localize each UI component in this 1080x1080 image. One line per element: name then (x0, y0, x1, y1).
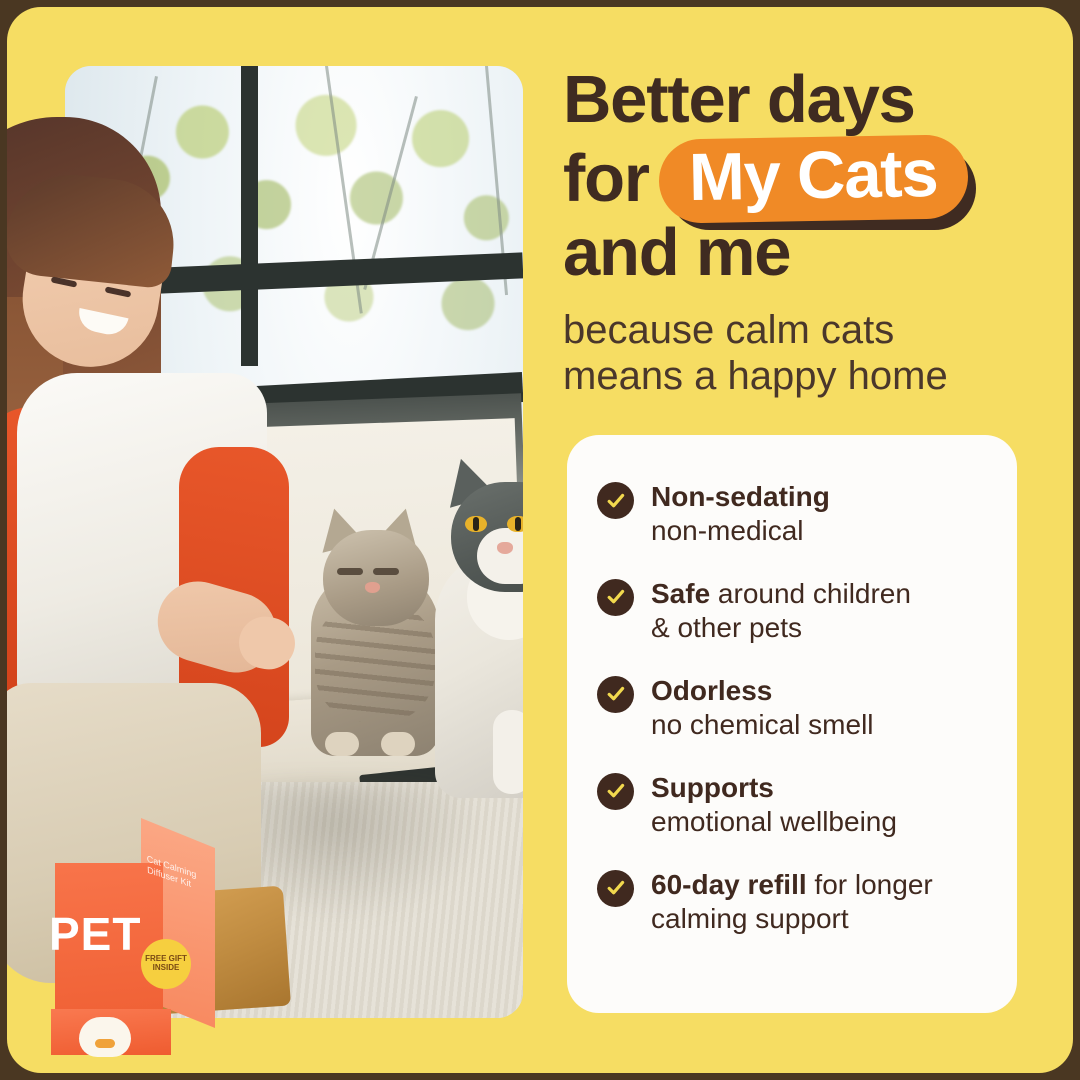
tabby-cat (305, 506, 445, 756)
cat-nose (497, 542, 513, 554)
benefit-detail: no chemical smell (651, 709, 874, 740)
benefit-headline: Odorless (651, 675, 772, 706)
benefit-detail: emotional wellbeing (651, 806, 897, 837)
benefit-detail: & other pets (651, 612, 802, 643)
cat-paw (325, 732, 359, 756)
cat-leg (493, 710, 523, 794)
grey-white-cat (433, 458, 523, 788)
check-icon (597, 870, 634, 907)
benefit-rest: around children (710, 578, 911, 609)
headline-block: Better days for My Cats and me because c… (563, 67, 1033, 399)
check-icon (597, 482, 634, 519)
benefit-item: Non-sedatingnon-medical (597, 479, 983, 549)
product-box: Cat Calming Diffuser Kit PET FREE GIFT I… (55, 833, 265, 1033)
benefit-text: Supportsemotional wellbeing (651, 770, 897, 840)
benefit-item: 60-day refill for longercalming support (597, 867, 983, 937)
poster: Cat Calming Diffuser Kit PET FREE GIFT I… (0, 0, 1080, 1080)
poster-canvas: Cat Calming Diffuser Kit PET FREE GIFT I… (7, 7, 1073, 1073)
check-icon (597, 579, 634, 616)
cat-eye (465, 516, 487, 532)
product-badge: FREE GIFT INSIDE (141, 939, 191, 989)
benefit-headline: Non-sedating (651, 481, 830, 512)
benefits-card: Non-sedatingnon-medicalSafe around child… (567, 435, 1017, 1013)
benefit-item: Supportsemotional wellbeing (597, 770, 983, 840)
pill-label: My Cats (658, 134, 968, 223)
page-title: Better days for My Cats and me (563, 67, 1033, 286)
benefit-text: Odorlessno chemical smell (651, 673, 874, 743)
benefit-detail: non-medical (651, 515, 804, 546)
benefit-headline: Supports (651, 772, 774, 803)
benefit-detail: calming support (651, 903, 849, 934)
cat-paw (381, 732, 415, 756)
check-icon (597, 773, 634, 810)
check-icon (597, 676, 634, 713)
benefit-text: Non-sedatingnon-medical (651, 479, 830, 549)
product-cat-illustration (79, 1017, 131, 1057)
subheadline: because calm cats means a happy home (563, 308, 1033, 399)
benefit-text: Safe around children& other pets (651, 576, 911, 646)
cat-head (323, 530, 429, 626)
benefit-item: Odorlessno chemical smell (597, 673, 983, 743)
benefit-rest: for longer (807, 869, 933, 900)
my-cats-pill: My Cats (659, 137, 968, 221)
subheadline-line-2: means a happy home (563, 354, 1033, 400)
benefit-item: Safe around children& other pets (597, 576, 983, 646)
cat-eye (373, 568, 399, 575)
benefit-text: 60-day refill for longercalming support (651, 867, 933, 937)
headline-for-word: for (563, 146, 649, 212)
headline-line-3: and me (563, 220, 1033, 286)
headline-line-1: Better days (563, 67, 1033, 133)
benefit-headline: Safe (651, 578, 710, 609)
cat-eye (337, 568, 363, 575)
cat-eye (507, 516, 523, 532)
benefit-headline: 60-day refill (651, 869, 807, 900)
headline-line-2: for My Cats (563, 137, 1033, 221)
cat-nose (365, 582, 380, 593)
subheadline-line-1: because calm cats (563, 308, 1033, 354)
